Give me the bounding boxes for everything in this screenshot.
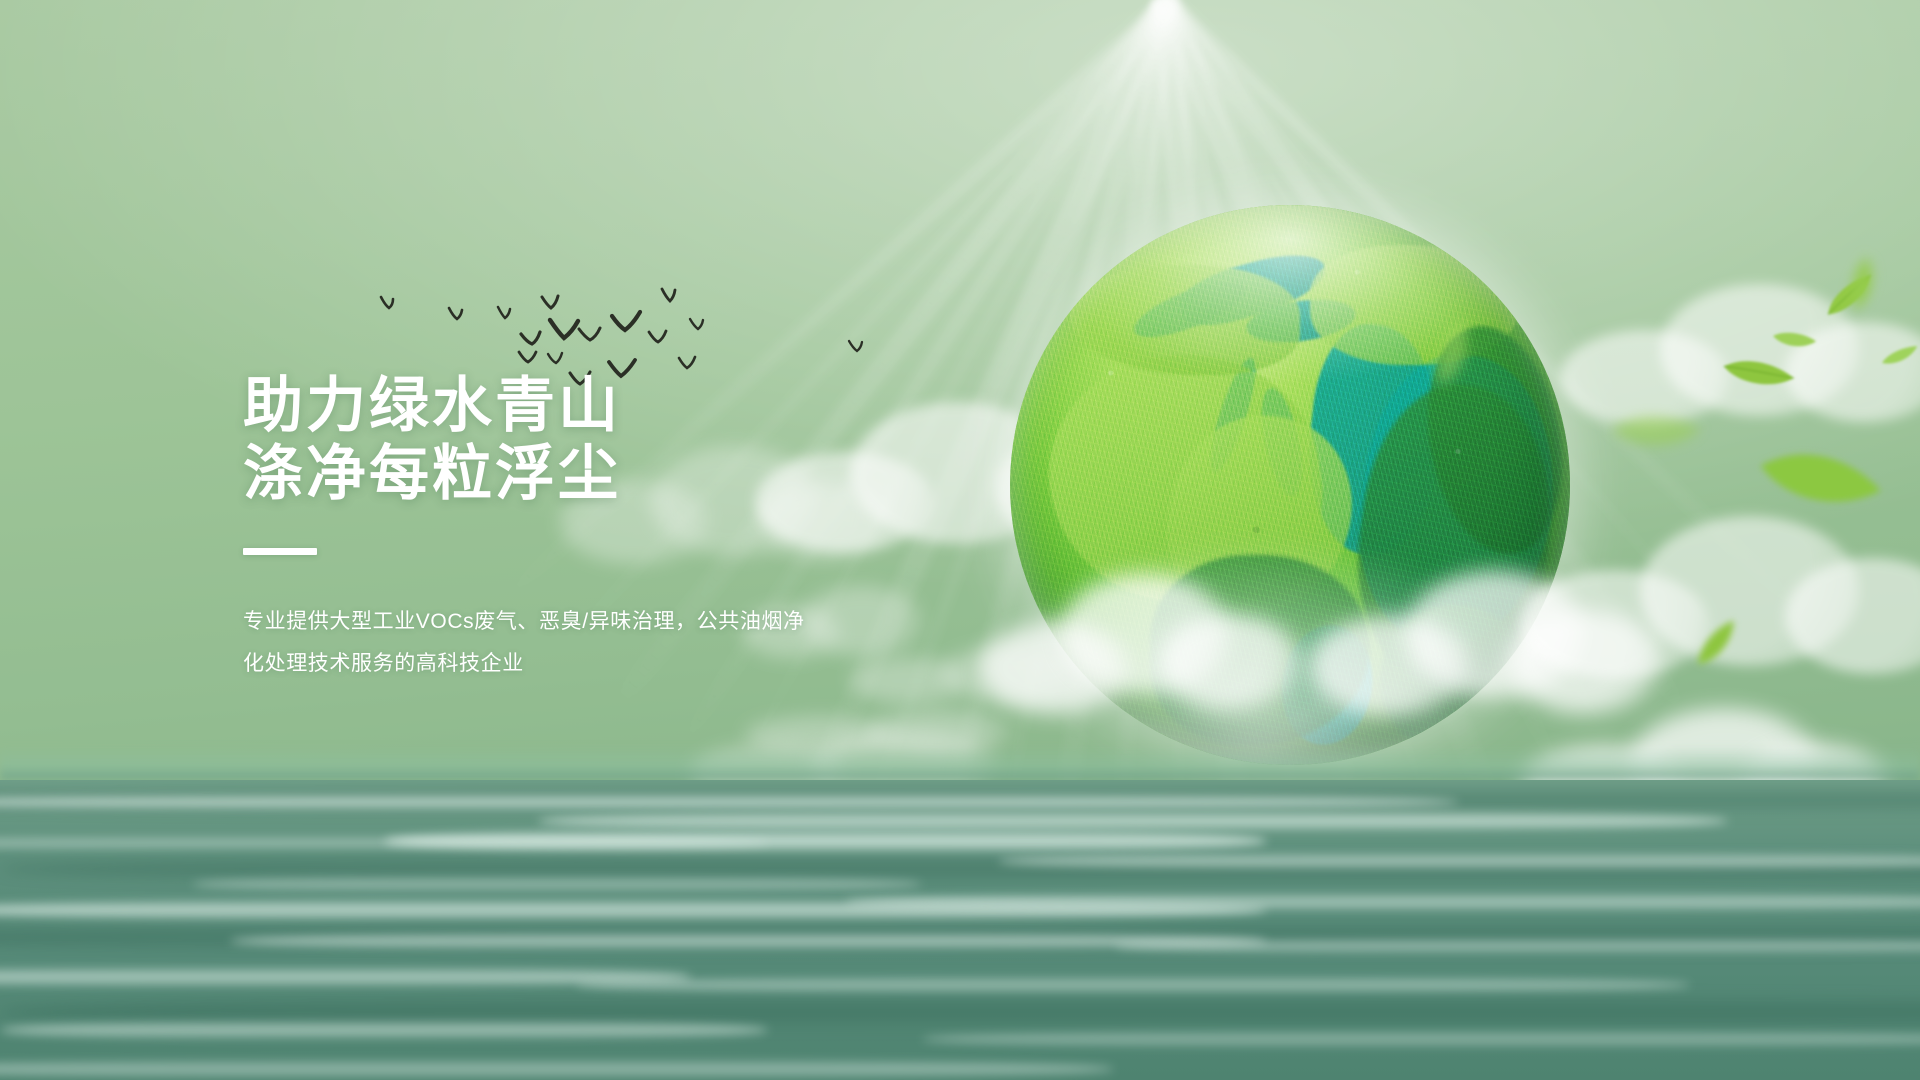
water-surface — [0, 780, 1920, 1080]
leaf-icon — [1718, 343, 1798, 405]
bird-icon — [610, 310, 648, 336]
banner-subtitle: 专业提供大型工业VOCs废气、恶臭/异味治理，公共油烟净 化处理技术服务的高科技… — [243, 601, 883, 685]
bird-icon — [689, 318, 711, 332]
headline-line-1: 助力绿水青山 — [243, 372, 1003, 440]
bird-icon — [541, 294, 569, 312]
bird-icon — [548, 318, 588, 346]
cloud-thin-left — [745, 700, 1005, 760]
banner-stage: 助力绿水青山 涤净每粒浮尘 专业提供大型工业VOCs废气、恶臭/异味治理，公共油… — [0, 0, 1920, 1080]
banner-copy: 助力绿水青山 涤净每粒浮尘 专业提供大型工业VOCs废气、恶臭/异味治理，公共油… — [243, 372, 1003, 685]
bird-icon — [848, 340, 870, 354]
bird-icon — [380, 296, 406, 312]
leaf-icon — [1685, 616, 1749, 672]
bird-icon — [661, 288, 685, 306]
cloud-right-top — [1560, 270, 1920, 430]
earth-globe — [1010, 205, 1570, 765]
leaf-icon — [1837, 254, 1888, 315]
headline-divider — [243, 548, 317, 555]
leaf-icon — [1752, 414, 1887, 544]
leaf-icon — [1770, 322, 1818, 357]
globe-rim-shading — [1010, 205, 1570, 765]
water-horizon — [0, 746, 1920, 780]
bird-icon — [448, 306, 474, 322]
bird-icon — [648, 330, 674, 346]
subtitle-line-1: 专业提供大型工业VOCs废气、恶臭/异味治理，公共油烟净 — [243, 601, 883, 643]
bird-icon — [497, 306, 521, 322]
bird-icon — [547, 352, 569, 366]
bird-icon — [678, 356, 702, 372]
cloud-right-mid — [1520, 500, 1920, 680]
leaf-icon — [1605, 397, 1704, 467]
leaf-icon — [1817, 270, 1882, 321]
bird-icon — [578, 326, 608, 344]
leaf-icon — [1879, 344, 1920, 368]
headline-line-2: 涤净每粒浮尘 — [243, 440, 1003, 508]
bird-icon — [520, 330, 550, 348]
subtitle-line-2: 化处理技术服务的高科技企业 — [243, 643, 883, 685]
bird-icon — [518, 350, 544, 366]
